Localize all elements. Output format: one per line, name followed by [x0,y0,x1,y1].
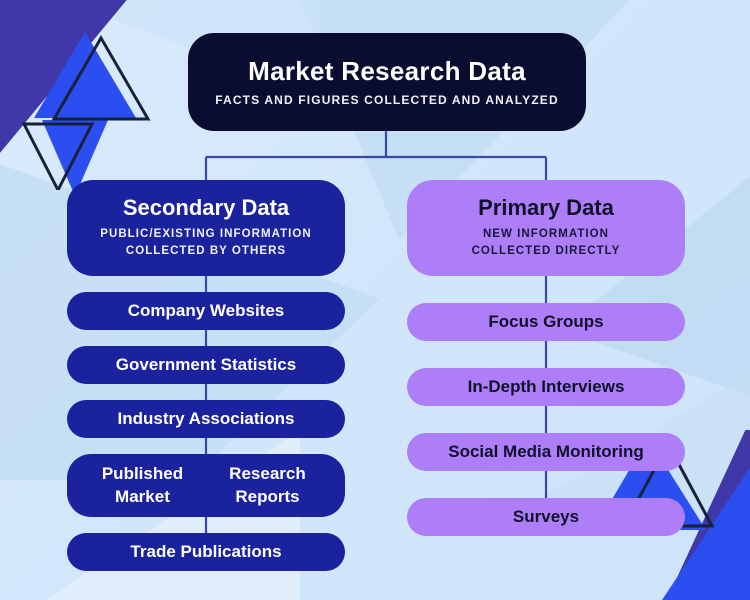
outline-triangle-up-shape [54,38,148,119]
branch-node-primary[interactable]: Primary Data NEW INFORMATION COLLECTED D… [407,180,685,276]
leaf-secondary-2[interactable]: Government Statistics [67,346,345,384]
root-title: Market Research Data [248,57,526,87]
branch-title-secondary: Secondary Data [123,196,289,220]
branch-subtitle-primary-line1: NEW INFORMATION [472,226,621,243]
blue-sliver-br-shape [662,468,750,600]
root-subtitle: FACTS AND FIGURES COLLECTED AND ANALYZED [215,93,559,107]
outline-triangle-down-shape [24,124,92,190]
leaf-secondary-4[interactable]: Published MarketResearch Reports [67,454,345,517]
decorative-triangles-top-left [0,0,210,190]
background-facet-bottom-right [520,330,750,510]
purple-wedge-shape [0,0,135,165]
branch-node-secondary[interactable]: Secondary Data PUBLIC/EXISTING INFORMATI… [67,180,345,276]
leaf-secondary-1[interactable]: Company Websites [67,292,345,330]
leaf-primary-1[interactable]: Focus Groups [407,303,685,341]
branch-subtitle-primary: NEW INFORMATION COLLECTED DIRECTLY [472,226,621,259]
branch-subtitle-primary-line2: COLLECTED DIRECTLY [472,243,621,260]
leaf-secondary-3[interactable]: Industry Associations [67,400,345,438]
branch-subtitle-secondary-line2: COLLECTED BY OTHERS [100,243,312,260]
branch-title-primary: Primary Data [478,196,614,220]
leaf-primary-2[interactable]: In-Depth Interviews [407,368,685,406]
branch-subtitle-secondary-line1: PUBLIC/EXISTING INFORMATION [100,226,312,243]
diagram-canvas: Market Research Data FACTS AND FIGURES C… [0,0,750,600]
leaf-primary-4[interactable]: Surveys [407,498,685,536]
leaf-secondary-5[interactable]: Trade Publications [67,533,345,571]
blue-triangle-up-shape [34,32,136,118]
root-node[interactable]: Market Research Data FACTS AND FIGURES C… [188,33,586,131]
branch-subtitle-secondary: PUBLIC/EXISTING INFORMATION COLLECTED BY… [100,226,312,259]
leaf-primary-3[interactable]: Social Media Monitoring [407,433,685,471]
